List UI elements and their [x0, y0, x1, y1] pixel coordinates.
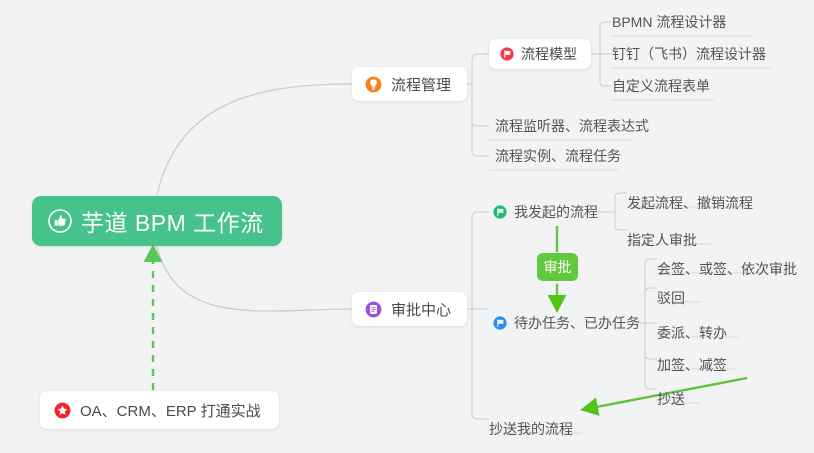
leaf-cc[interactable]: 抄送 — [651, 386, 691, 412]
integration-note-node[interactable]: OA、CRM、ERP 打通实战 — [40, 391, 279, 429]
leaf-assignee-approval[interactable]: 指定人审批 — [621, 227, 703, 253]
leaf-delegate-transfer[interactable]: 委派、转办 — [651, 320, 733, 346]
link-pm-bracket — [472, 54, 489, 156]
link-root-to-approval-center — [155, 238, 352, 311]
leaf-label: 抄送 — [657, 389, 685, 409]
flag-icon — [493, 316, 507, 330]
leaf-label: BPMN 流程设计器 — [612, 12, 726, 32]
branch-process-management[interactable]: 流程管理 — [352, 67, 467, 101]
leaf-cc-to-me-processes[interactable]: 抄送我的流程 — [483, 416, 579, 442]
leaf-label: 指定人审批 — [627, 230, 697, 250]
leaf-label: 驳回 — [657, 288, 685, 308]
leaf-label: 抄送我的流程 — [489, 419, 573, 439]
branch-label: 审批中心 — [391, 299, 451, 320]
node-label: 我发起的流程 — [514, 202, 598, 222]
leaf-label: 加签、减签 — [657, 355, 727, 375]
node-todo-done-tasks[interactable]: 待办任务、已办任务 — [489, 310, 646, 336]
leaf-add-remove-sign[interactable]: 加签、减签 — [651, 352, 733, 378]
highlight-label: 审批 — [544, 257, 572, 277]
leaf-label: 发起流程、撤销流程 — [627, 193, 753, 213]
leaf-label: 自定义流程表单 — [612, 76, 710, 96]
mindmap-canvas: 芋道 BPM 工作流 流程管理 流程模型 BPMN 流程设计器 钉钉（飞书 — [0, 0, 814, 453]
leaf-start-cancel-process[interactable]: 发起流程、撤销流程 — [621, 190, 759, 216]
root-label: 芋道 BPM 工作流 — [81, 204, 264, 238]
leaf-label: 钉钉（飞书）流程设计器 — [612, 44, 766, 64]
document-icon — [365, 301, 382, 318]
leaf-dingtalk-feishu-designer[interactable]: 钉钉（飞书）流程设计器 — [606, 41, 772, 67]
leaf-custom-process-form[interactable]: 自定义流程表单 — [606, 73, 716, 99]
star-icon — [54, 402, 71, 419]
flag-icon — [493, 205, 507, 219]
link-ac-bracket — [472, 212, 489, 419]
leaf-label: 会签、或签、依次审批 — [657, 259, 797, 279]
flag-icon — [500, 47, 514, 61]
lightbulb-icon — [365, 76, 382, 93]
node-label: 流程模型 — [521, 44, 577, 64]
root-node[interactable]: 芋道 BPM 工作流 — [32, 196, 282, 246]
leaf-label: 流程实例、流程任务 — [495, 146, 621, 166]
node-label: 待办任务、已办任务 — [514, 313, 640, 333]
leaf-countersign-orsign-sequential[interactable]: 会签、或签、依次审批 — [651, 256, 803, 282]
node-process-model[interactable]: 流程模型 — [489, 39, 591, 69]
thumbs-up-icon — [48, 209, 72, 233]
approval-highlight-box[interactable]: 审批 — [537, 253, 578, 281]
leaf-label: 流程监听器、流程表达式 — [495, 116, 649, 136]
leaf-process-instance-task[interactable]: 流程实例、流程任务 — [489, 143, 627, 169]
node-my-started-processes[interactable]: 我发起的流程 — [489, 199, 604, 225]
leaf-reject[interactable]: 驳回 — [651, 285, 691, 311]
link-root-to-process-management — [155, 84, 352, 206]
leaf-label: 委派、转办 — [657, 323, 727, 343]
branch-approval-center[interactable]: 审批中心 — [352, 292, 467, 326]
integration-note-label: OA、CRM、ERP 打通实战 — [80, 400, 261, 421]
leaf-process-listener-expression[interactable]: 流程监听器、流程表达式 — [489, 113, 655, 139]
branch-label: 流程管理 — [391, 74, 451, 95]
leaf-bpmn-designer[interactable]: BPMN 流程设计器 — [606, 9, 732, 35]
